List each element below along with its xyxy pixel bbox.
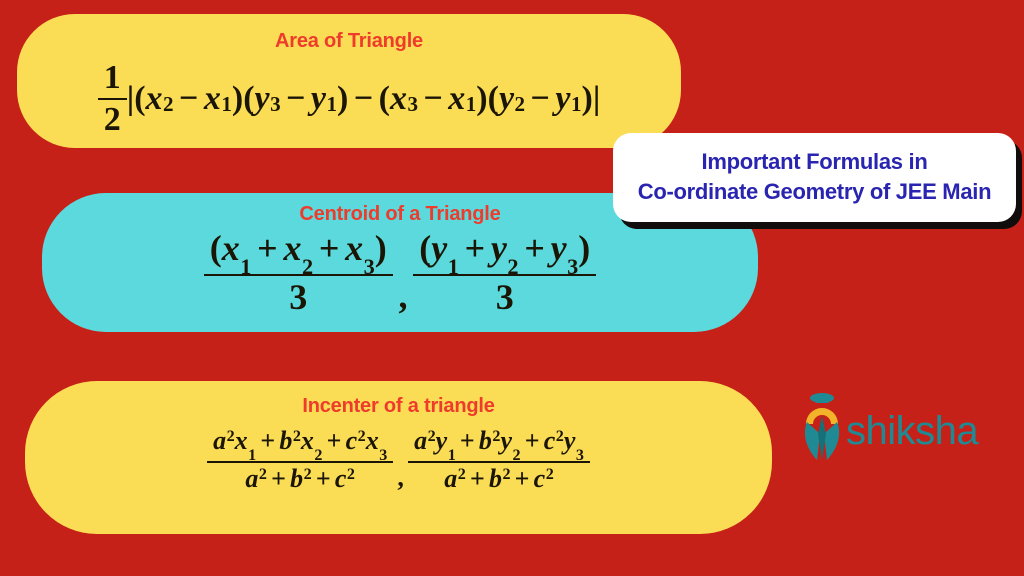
plus-2: +: [519, 228, 551, 268]
var-a: a: [213, 426, 226, 455]
sub-1: 1: [327, 92, 338, 117]
plus-2: +: [322, 426, 345, 455]
paren-close: ): [375, 228, 387, 268]
var-b: b: [290, 464, 303, 493]
sub-3: 3: [407, 92, 418, 117]
var-b: b: [479, 426, 492, 455]
var-y: y: [255, 80, 270, 118]
var-a: a: [245, 464, 258, 493]
var-y: y: [491, 228, 507, 268]
sub-3: 3: [270, 92, 281, 117]
sub-2: 2: [163, 92, 174, 117]
var-b: b: [279, 426, 292, 455]
fraction-denominator: a2+b2+c2: [438, 463, 560, 493]
var-x: x: [448, 80, 465, 118]
plus-2: +: [511, 464, 534, 493]
sub-3: 3: [567, 254, 578, 279]
exp-2: 2: [227, 428, 235, 445]
var-y: y: [555, 80, 570, 118]
paren-close-2: ): [337, 80, 348, 118]
paren-open: (: [419, 228, 431, 268]
badge-line-1: Important Formulas in: [702, 149, 928, 176]
shiksha-logo: shiksha: [798, 390, 968, 462]
sub-1: 1: [248, 447, 256, 464]
exp-2: 2: [546, 466, 554, 483]
var-c: c: [335, 464, 347, 493]
sub-2: 2: [513, 447, 521, 464]
plus-1: +: [466, 464, 489, 493]
fraction-numerator: 1: [98, 59, 127, 100]
sub-2: 2: [302, 254, 313, 279]
card-title-area: Area of Triangle: [275, 30, 423, 53]
fraction-incenter-x: a2x1+b2x2+c2x3 a2+b2+c2: [207, 426, 393, 493]
plus-2: +: [521, 426, 544, 455]
fraction-numerator: a2x1+b2x2+c2x3: [207, 426, 393, 463]
plus-1: +: [456, 426, 479, 455]
shiksha-logo-mark-icon: [798, 390, 846, 462]
minus-1: −: [174, 80, 204, 118]
plus-2: +: [312, 464, 335, 493]
sub-1: 1: [448, 447, 456, 464]
var-x: x: [222, 228, 240, 268]
abs-bar-close: |: [593, 80, 601, 118]
paren-open-2: (: [243, 80, 254, 118]
paren-open-4: (: [488, 80, 499, 118]
fraction-numerator: a2y1+b2y2+c2y3: [408, 426, 590, 463]
var-x: x: [366, 426, 379, 455]
exp-2: 2: [347, 466, 355, 483]
exp-2: 2: [428, 428, 436, 445]
formula-card-incenter-of-a-triangle: Incenter of a triangle a2x1+b2x2+c2x3 a2…: [25, 381, 772, 534]
var-y: y: [311, 80, 326, 118]
sub-1: 1: [240, 254, 251, 279]
sub-1: 1: [221, 92, 232, 117]
paren-close: ): [578, 228, 590, 268]
minus-2: −: [281, 80, 311, 118]
poster-canvas: Area of Triangle 1 2 | ( x2 − x1 ) ( y3 …: [0, 0, 1024, 576]
card-title-centroid: Centroid of a Triangle: [299, 203, 500, 226]
paren-open-1: (: [134, 80, 145, 118]
var-y: y: [431, 228, 447, 268]
badge-line-2: Co-ordinate Geometry of JEE Main: [638, 179, 991, 206]
exp-2: 2: [304, 466, 312, 483]
fraction-denominator: 3: [490, 276, 520, 317]
var-y: y: [436, 426, 448, 455]
plus-1: +: [459, 228, 491, 268]
title-badge: Important Formulas in Co-ordinate Geomet…: [613, 133, 1016, 222]
minus-3: −: [348, 80, 378, 118]
var-y: y: [500, 426, 512, 455]
fraction-numerator: (y1+y2+y3): [413, 228, 596, 276]
var-a: a: [414, 426, 427, 455]
fraction-numerator: (x1+x2+x3): [204, 228, 393, 276]
fraction-denominator: a2+b2+c2: [239, 463, 361, 493]
separator-comma: ,: [393, 275, 414, 317]
sub-1: 1: [571, 92, 582, 117]
plus-2: +: [313, 228, 345, 268]
sub-3: 3: [364, 254, 375, 279]
shiksha-wordmark: shiksha: [846, 411, 978, 451]
fraction-denominator: 2: [98, 100, 127, 139]
var-x: x: [146, 80, 163, 118]
abs-bar-open: |: [127, 80, 135, 118]
fraction-denominator: 3: [283, 276, 313, 317]
var-c: c: [346, 426, 358, 455]
fraction-one-half: 1 2: [98, 59, 127, 139]
exp-2: 2: [293, 428, 301, 445]
sub-1: 1: [466, 92, 477, 117]
sub-2: 2: [507, 254, 518, 279]
var-y: y: [551, 228, 567, 268]
sub-2: 2: [314, 447, 322, 464]
exp-2: 2: [458, 466, 466, 483]
paren-open: (: [210, 228, 222, 268]
formula-centroid: (x1+x2+x3) 3 , (y1+y2+y3) 3: [204, 228, 596, 317]
var-y: y: [499, 80, 514, 118]
formula-incenter: a2x1+b2x2+c2x3 a2+b2+c2 , a2y1+b2y2+c2y3…: [207, 426, 590, 493]
fraction-centroid-y: (y1+y2+y3) 3: [413, 228, 596, 317]
var-c: c: [544, 426, 556, 455]
minus-4: −: [418, 80, 448, 118]
paren-close-4: ): [581, 80, 592, 118]
var-a: a: [444, 464, 457, 493]
paren-close-3: ): [476, 80, 487, 118]
minus-5: −: [525, 80, 555, 118]
exp-2: 2: [492, 428, 500, 445]
card-title-incenter: Incenter of a triangle: [302, 395, 494, 418]
plus-1: +: [251, 228, 283, 268]
plus-1: +: [267, 464, 290, 493]
var-x: x: [301, 426, 314, 455]
formula-card-area-of-triangle: Area of Triangle 1 2 | ( x2 − x1 ) ( y3 …: [17, 14, 681, 148]
var-y: y: [564, 426, 576, 455]
sub-3: 3: [379, 447, 387, 464]
var-x: x: [390, 80, 407, 118]
sub-1: 1: [448, 254, 459, 279]
sub-3: 3: [576, 447, 584, 464]
var-c: c: [534, 464, 546, 493]
var-x: x: [283, 228, 301, 268]
var-x: x: [235, 426, 248, 455]
paren-close-1: ): [232, 80, 243, 118]
fraction-incenter-y: a2y1+b2y2+c2y3 a2+b2+c2: [408, 426, 590, 493]
fraction-centroid-x: (x1+x2+x3) 3: [204, 228, 393, 317]
plus-1: +: [256, 426, 279, 455]
exp-2: 2: [259, 466, 267, 483]
var-x: x: [204, 80, 221, 118]
formula-area-of-triangle: 1 2 | ( x2 − x1 ) ( y3 − y1 ) − ( x3 − x…: [98, 59, 601, 139]
separator-comma: ,: [393, 463, 408, 493]
exp-2: 2: [358, 428, 366, 445]
paren-open-3: (: [379, 80, 390, 118]
var-b: b: [489, 464, 502, 493]
exp-2: 2: [556, 428, 564, 445]
var-x: x: [345, 228, 363, 268]
sub-2: 2: [515, 92, 526, 117]
exp-2: 2: [502, 466, 510, 483]
